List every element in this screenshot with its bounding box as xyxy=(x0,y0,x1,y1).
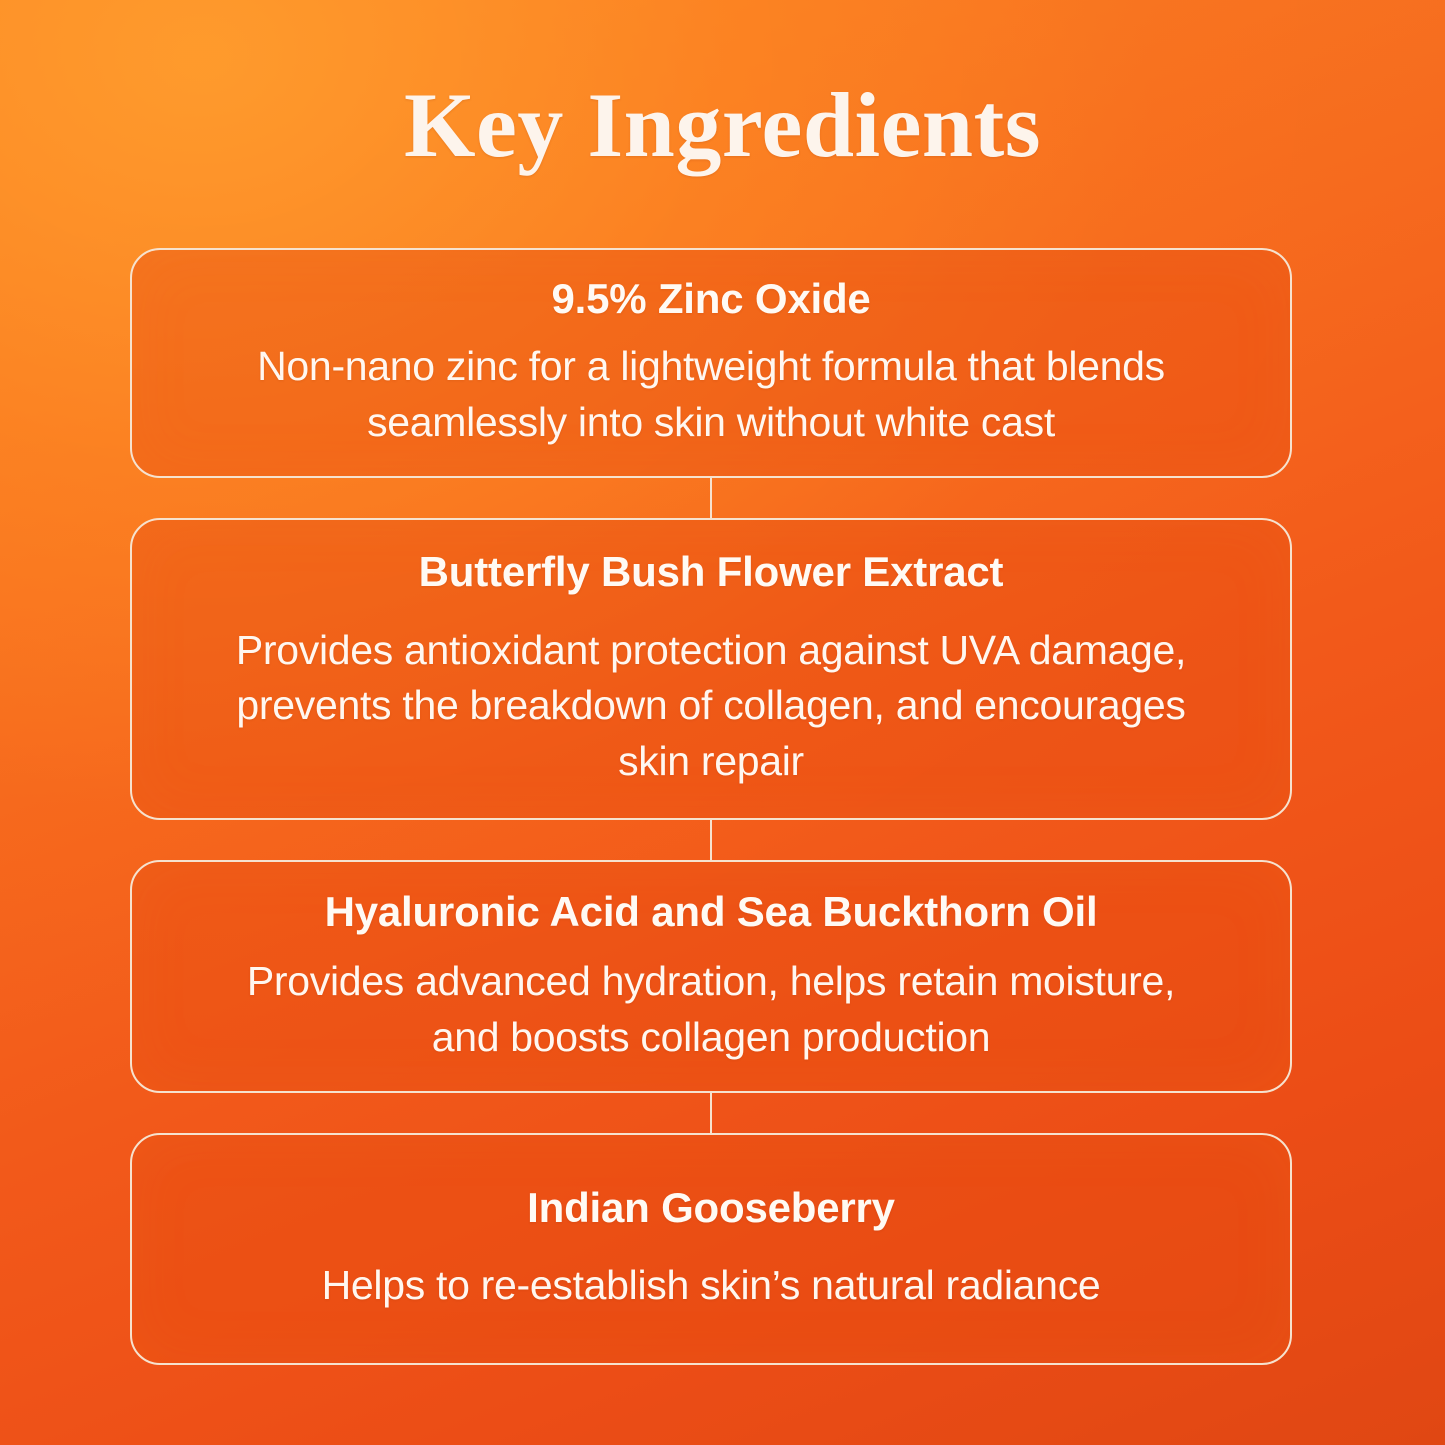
ingredient-card-list: 9.5% Zinc Oxide Non-nano zinc for a ligh… xyxy=(130,248,1292,1365)
ingredient-card-zinc-oxide: 9.5% Zinc Oxide Non-nano zinc for a ligh… xyxy=(130,248,1292,478)
ingredient-card-indian-gooseberry: Indian Gooseberry Helps to re-establish … xyxy=(130,1133,1292,1365)
card-connector-1 xyxy=(130,478,1292,518)
ingredient-description: Provides antioxidant protection against … xyxy=(211,623,1211,790)
ingredient-title: 9.5% Zinc Oxide xyxy=(551,275,870,323)
key-ingredients-poster: Key Ingredients 9.5% Zinc Oxide Non-nano… xyxy=(0,0,1445,1445)
ingredient-description: Helps to re-establish skin’s natural rad… xyxy=(322,1258,1101,1314)
page-title: Key Ingredients xyxy=(0,76,1445,175)
ingredient-title: Hyaluronic Acid and Sea Buckthorn Oil xyxy=(325,888,1098,936)
card-connector-3 xyxy=(130,1093,1292,1133)
ingredient-card-butterfly-bush-flower-extract: Butterfly Bush Flower Extract Provides a… xyxy=(130,518,1292,820)
ingredient-title: Butterfly Bush Flower Extract xyxy=(419,548,1004,596)
ingredient-description: Non-nano zinc for a lightweight formula … xyxy=(206,339,1216,451)
ingredient-card-hyaluronic-acid-sea-buckthorn-oil: Hyaluronic Acid and Sea Buckthorn Oil Pr… xyxy=(130,860,1292,1093)
ingredient-title: Indian Gooseberry xyxy=(527,1184,895,1232)
ingredient-description: Provides advanced hydration, helps retai… xyxy=(231,954,1191,1066)
card-connector-2 xyxy=(130,820,1292,860)
